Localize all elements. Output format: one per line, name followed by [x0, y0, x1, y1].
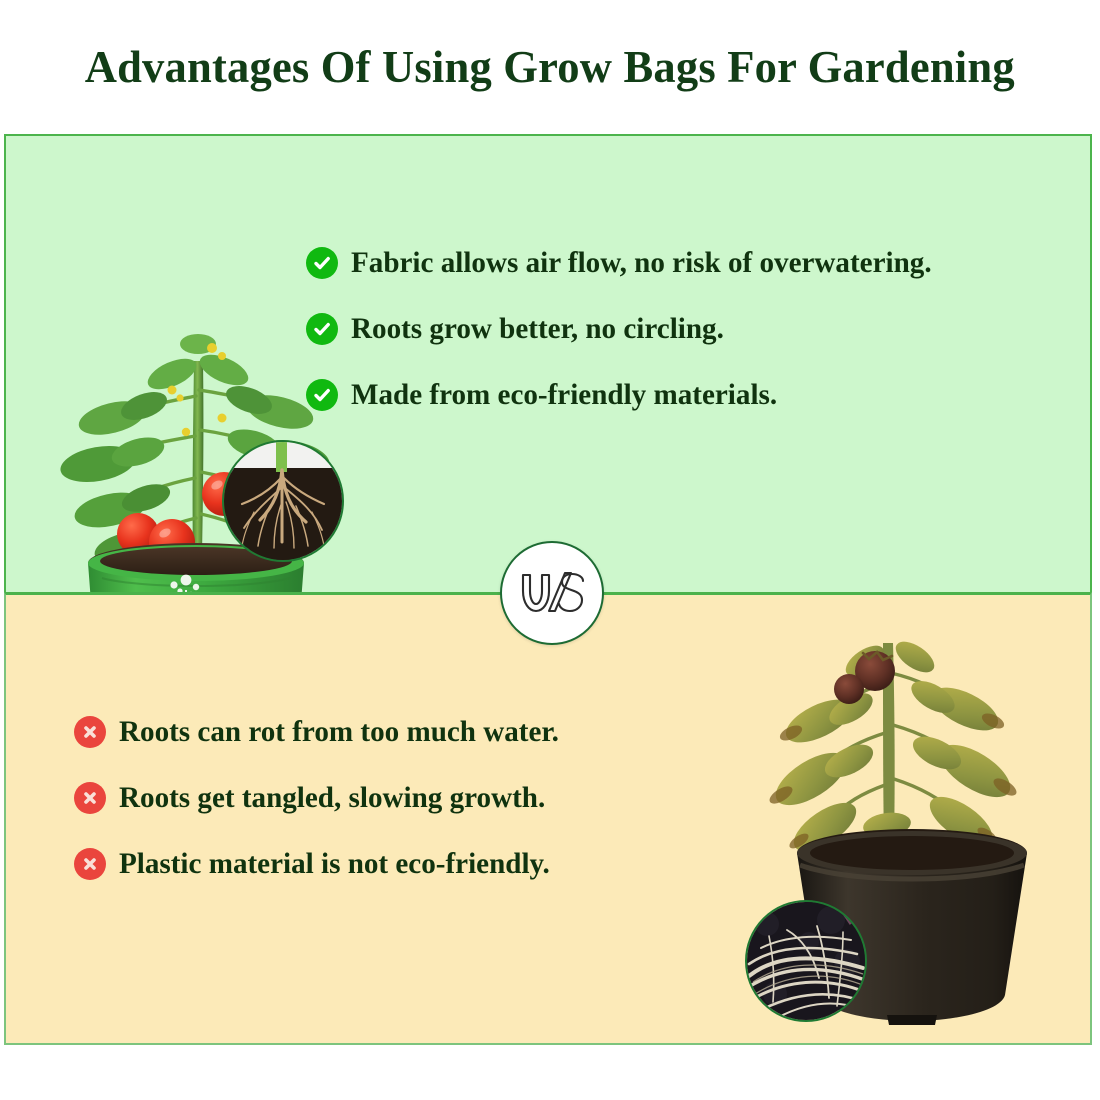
- cross-circle-icon: [74, 716, 106, 748]
- grow-bag-panel: GO4ganic Growing Happy Fabric allows air…: [4, 134, 1092, 592]
- plastic-pot-panel: Roots can rot from too much water. Roots…: [4, 592, 1092, 1045]
- versus-badge: [500, 541, 604, 645]
- grow-bag-benefit-list: Fabric allows air flow, no risk of overw…: [306, 247, 950, 411]
- list-item: Fabric allows air flow, no risk of overw…: [306, 247, 950, 279]
- check-circle-icon: [306, 379, 338, 411]
- list-item: Made from eco-friendly materials.: [306, 379, 950, 411]
- list-item-label: Roots grow better, no circling.: [351, 314, 724, 344]
- list-item: Roots can rot from too much water.: [74, 716, 573, 748]
- plastic-pot-drawback-list: Roots can rot from too much water. Roots…: [74, 716, 573, 880]
- check-circle-icon: [306, 313, 338, 345]
- list-item: Roots get tangled, slowing growth.: [74, 782, 573, 814]
- list-item: Plastic material is not eco-friendly.: [74, 848, 573, 880]
- page-header: Advantages Of Using Grow Bags For Garden…: [0, 0, 1100, 134]
- page-title: Advantages Of Using Grow Bags For Garden…: [85, 41, 1015, 93]
- healthy-roots-inset: [222, 440, 344, 562]
- list-item-label: Plastic material is not eco-friendly.: [119, 849, 550, 879]
- sprout-logo-icon: [164, 574, 208, 592]
- list-item-label: Made from eco-friendly materials.: [351, 380, 777, 410]
- cross-circle-icon: [74, 782, 106, 814]
- check-circle-icon: [306, 247, 338, 279]
- list-item-label: Roots can rot from too much water.: [119, 717, 559, 747]
- versus-letters: [515, 565, 589, 621]
- list-item-label: Roots get tangled, slowing growth.: [119, 783, 545, 813]
- list-item-label: Fabric allows air flow, no risk of overw…: [351, 248, 932, 278]
- tangled-roots-inset: [745, 900, 867, 1022]
- cross-circle-icon: [74, 848, 106, 880]
- list-item: Roots grow better, no circling.: [306, 313, 950, 345]
